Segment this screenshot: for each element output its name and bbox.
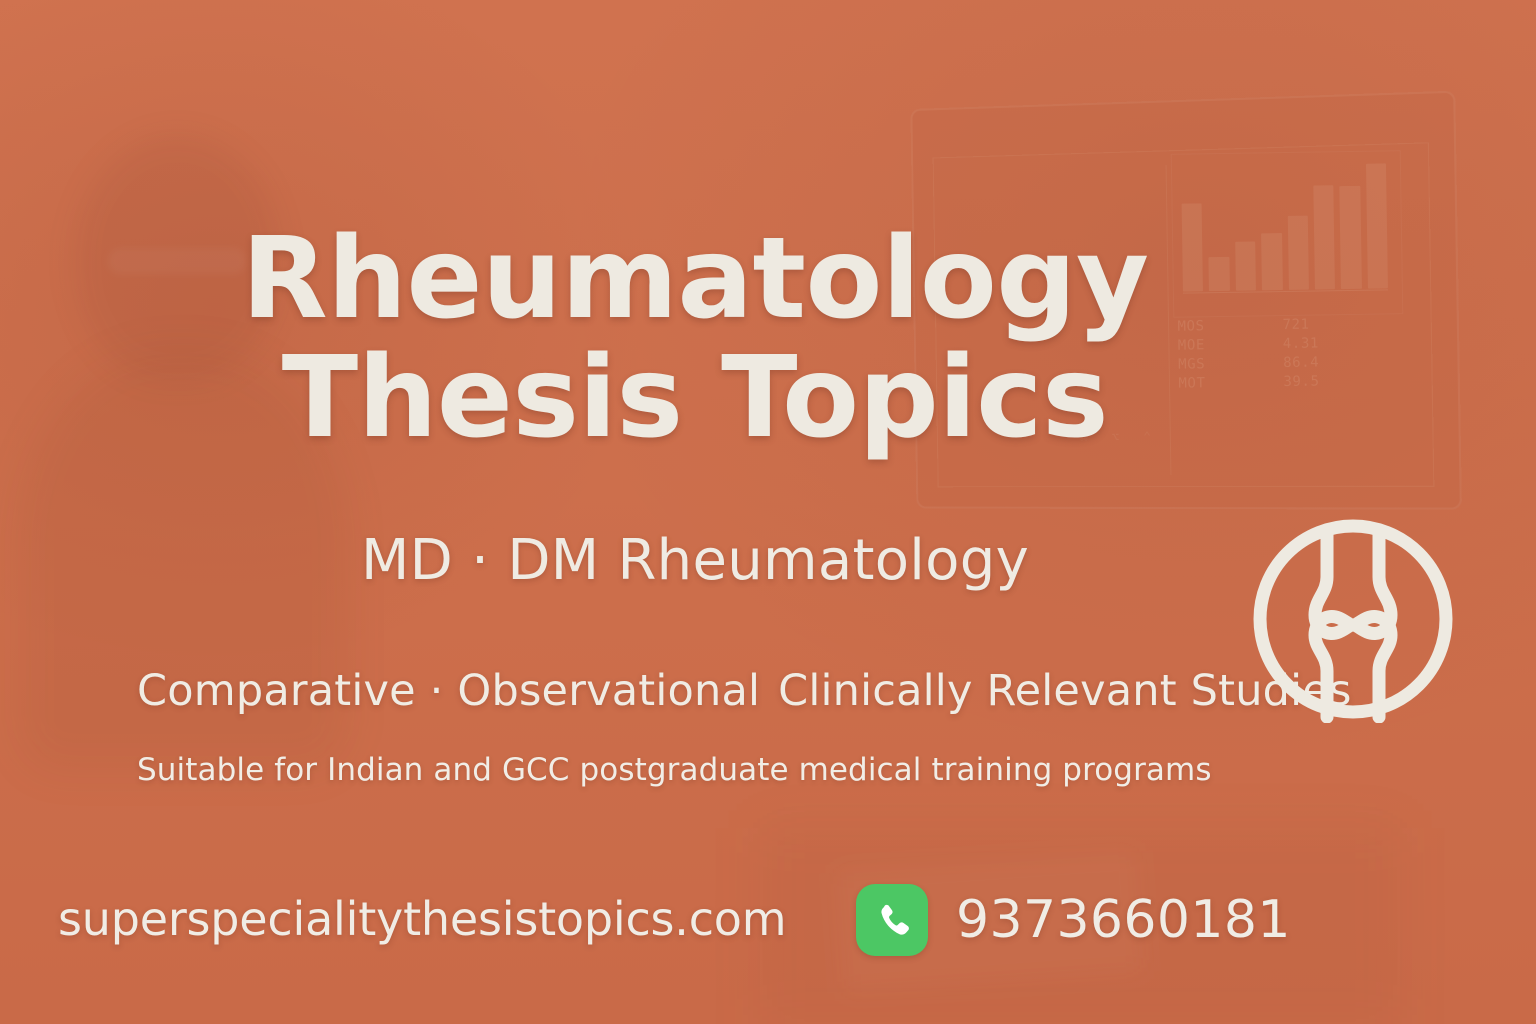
phone-handset-icon[interactable] — [856, 884, 928, 956]
knee-joint-icon — [1249, 515, 1457, 723]
website-url[interactable]: superspecialitythesistopics.com — [58, 892, 786, 946]
page-subtitle: MD · DM Rheumatology — [0, 528, 1390, 593]
promo-banner: MOS721MOE4.31MGS86.4MOT39.5 ⌘ ⌥ ⌃ Rheuma… — [0, 0, 1536, 1024]
tagline-left: Comparative · Observational — [137, 666, 760, 716]
footer: superspecialitythesistopics.com 93736601… — [0, 874, 1536, 1024]
title-line-1: Rheumatology — [0, 224, 1390, 335]
contact-block[interactable]: 9373660181 — [856, 884, 1291, 956]
audience-note: Suitable for Indian and GCC postgraduate… — [137, 752, 1212, 788]
title-line-2: Thesis Topics — [0, 343, 1390, 454]
banner-content: Rheumatology Thesis Topics MD · DM Rheum… — [0, 0, 1536, 1024]
tagline: Comparative · ObservationalClinically Re… — [137, 666, 1352, 716]
phone-number[interactable]: 9373660181 — [956, 890, 1291, 950]
page-title: Rheumatology Thesis Topics — [0, 224, 1390, 454]
